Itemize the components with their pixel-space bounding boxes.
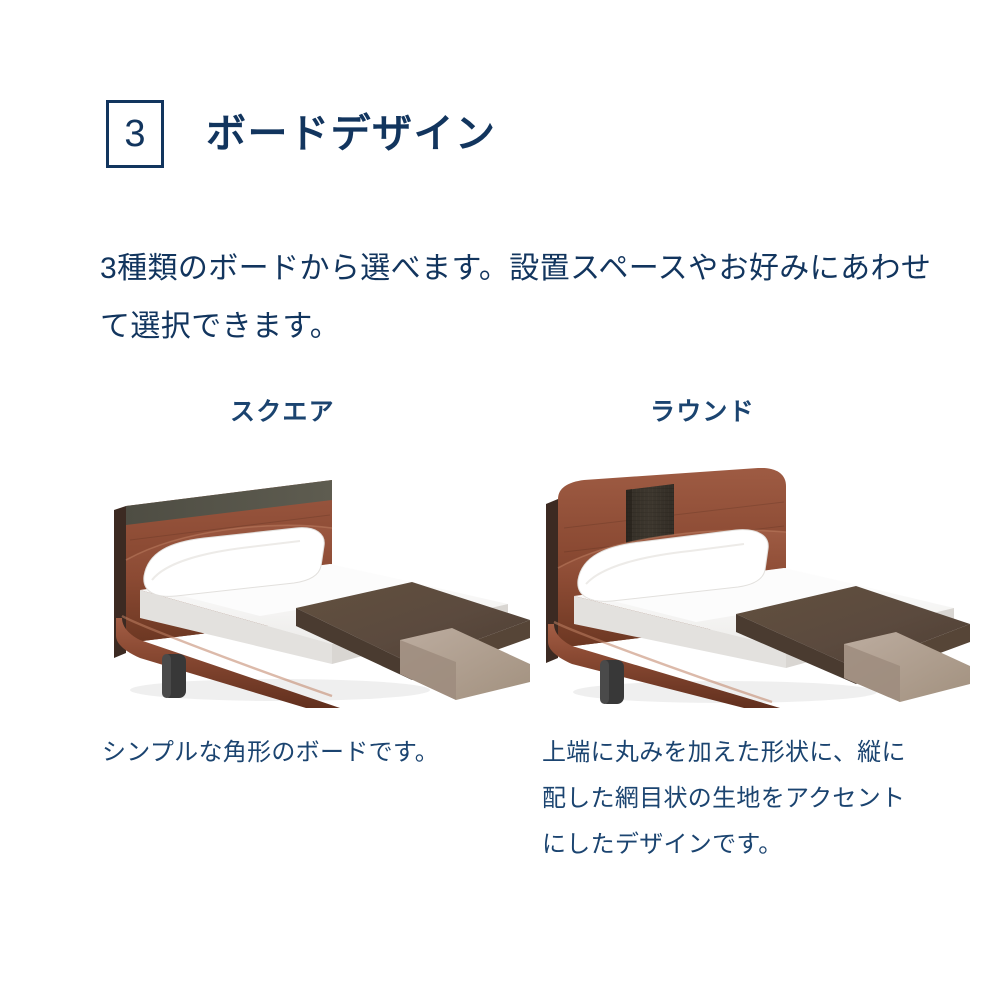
page-root: 3 ボードデザイン 3種類のボードから選べます。設置スペースやお好みにあわせて選…: [0, 0, 1000, 1000]
option-caption-square: シンプルな角形のボードです。: [102, 730, 474, 776]
section-number-badge: 3: [106, 100, 164, 168]
page-title: ボードデザイン: [206, 114, 497, 154]
option-card-round: ラウンド: [540, 400, 980, 892]
option-caption-round: 上端に丸みを加えた形状に、縦に配した網目状の生地をアクセントにしたデザインです。: [542, 730, 920, 868]
bed-image-round: [540, 468, 970, 708]
section-heading: 3 ボードデザイン: [106, 100, 497, 168]
round-bed-illustration: [540, 468, 970, 708]
bed-image-square: [100, 468, 530, 708]
option-label-square: スクエア: [230, 400, 540, 430]
square-bed-illustration: [100, 468, 530, 708]
option-card-square: スクエア: [100, 400, 540, 892]
section-description: 3種類のボードから選べます。設置スペースやお好みにあわせて選択できます。: [100, 240, 950, 355]
option-columns: スクエア: [0, 400, 1000, 892]
option-label-round: ラウンド: [650, 400, 980, 430]
